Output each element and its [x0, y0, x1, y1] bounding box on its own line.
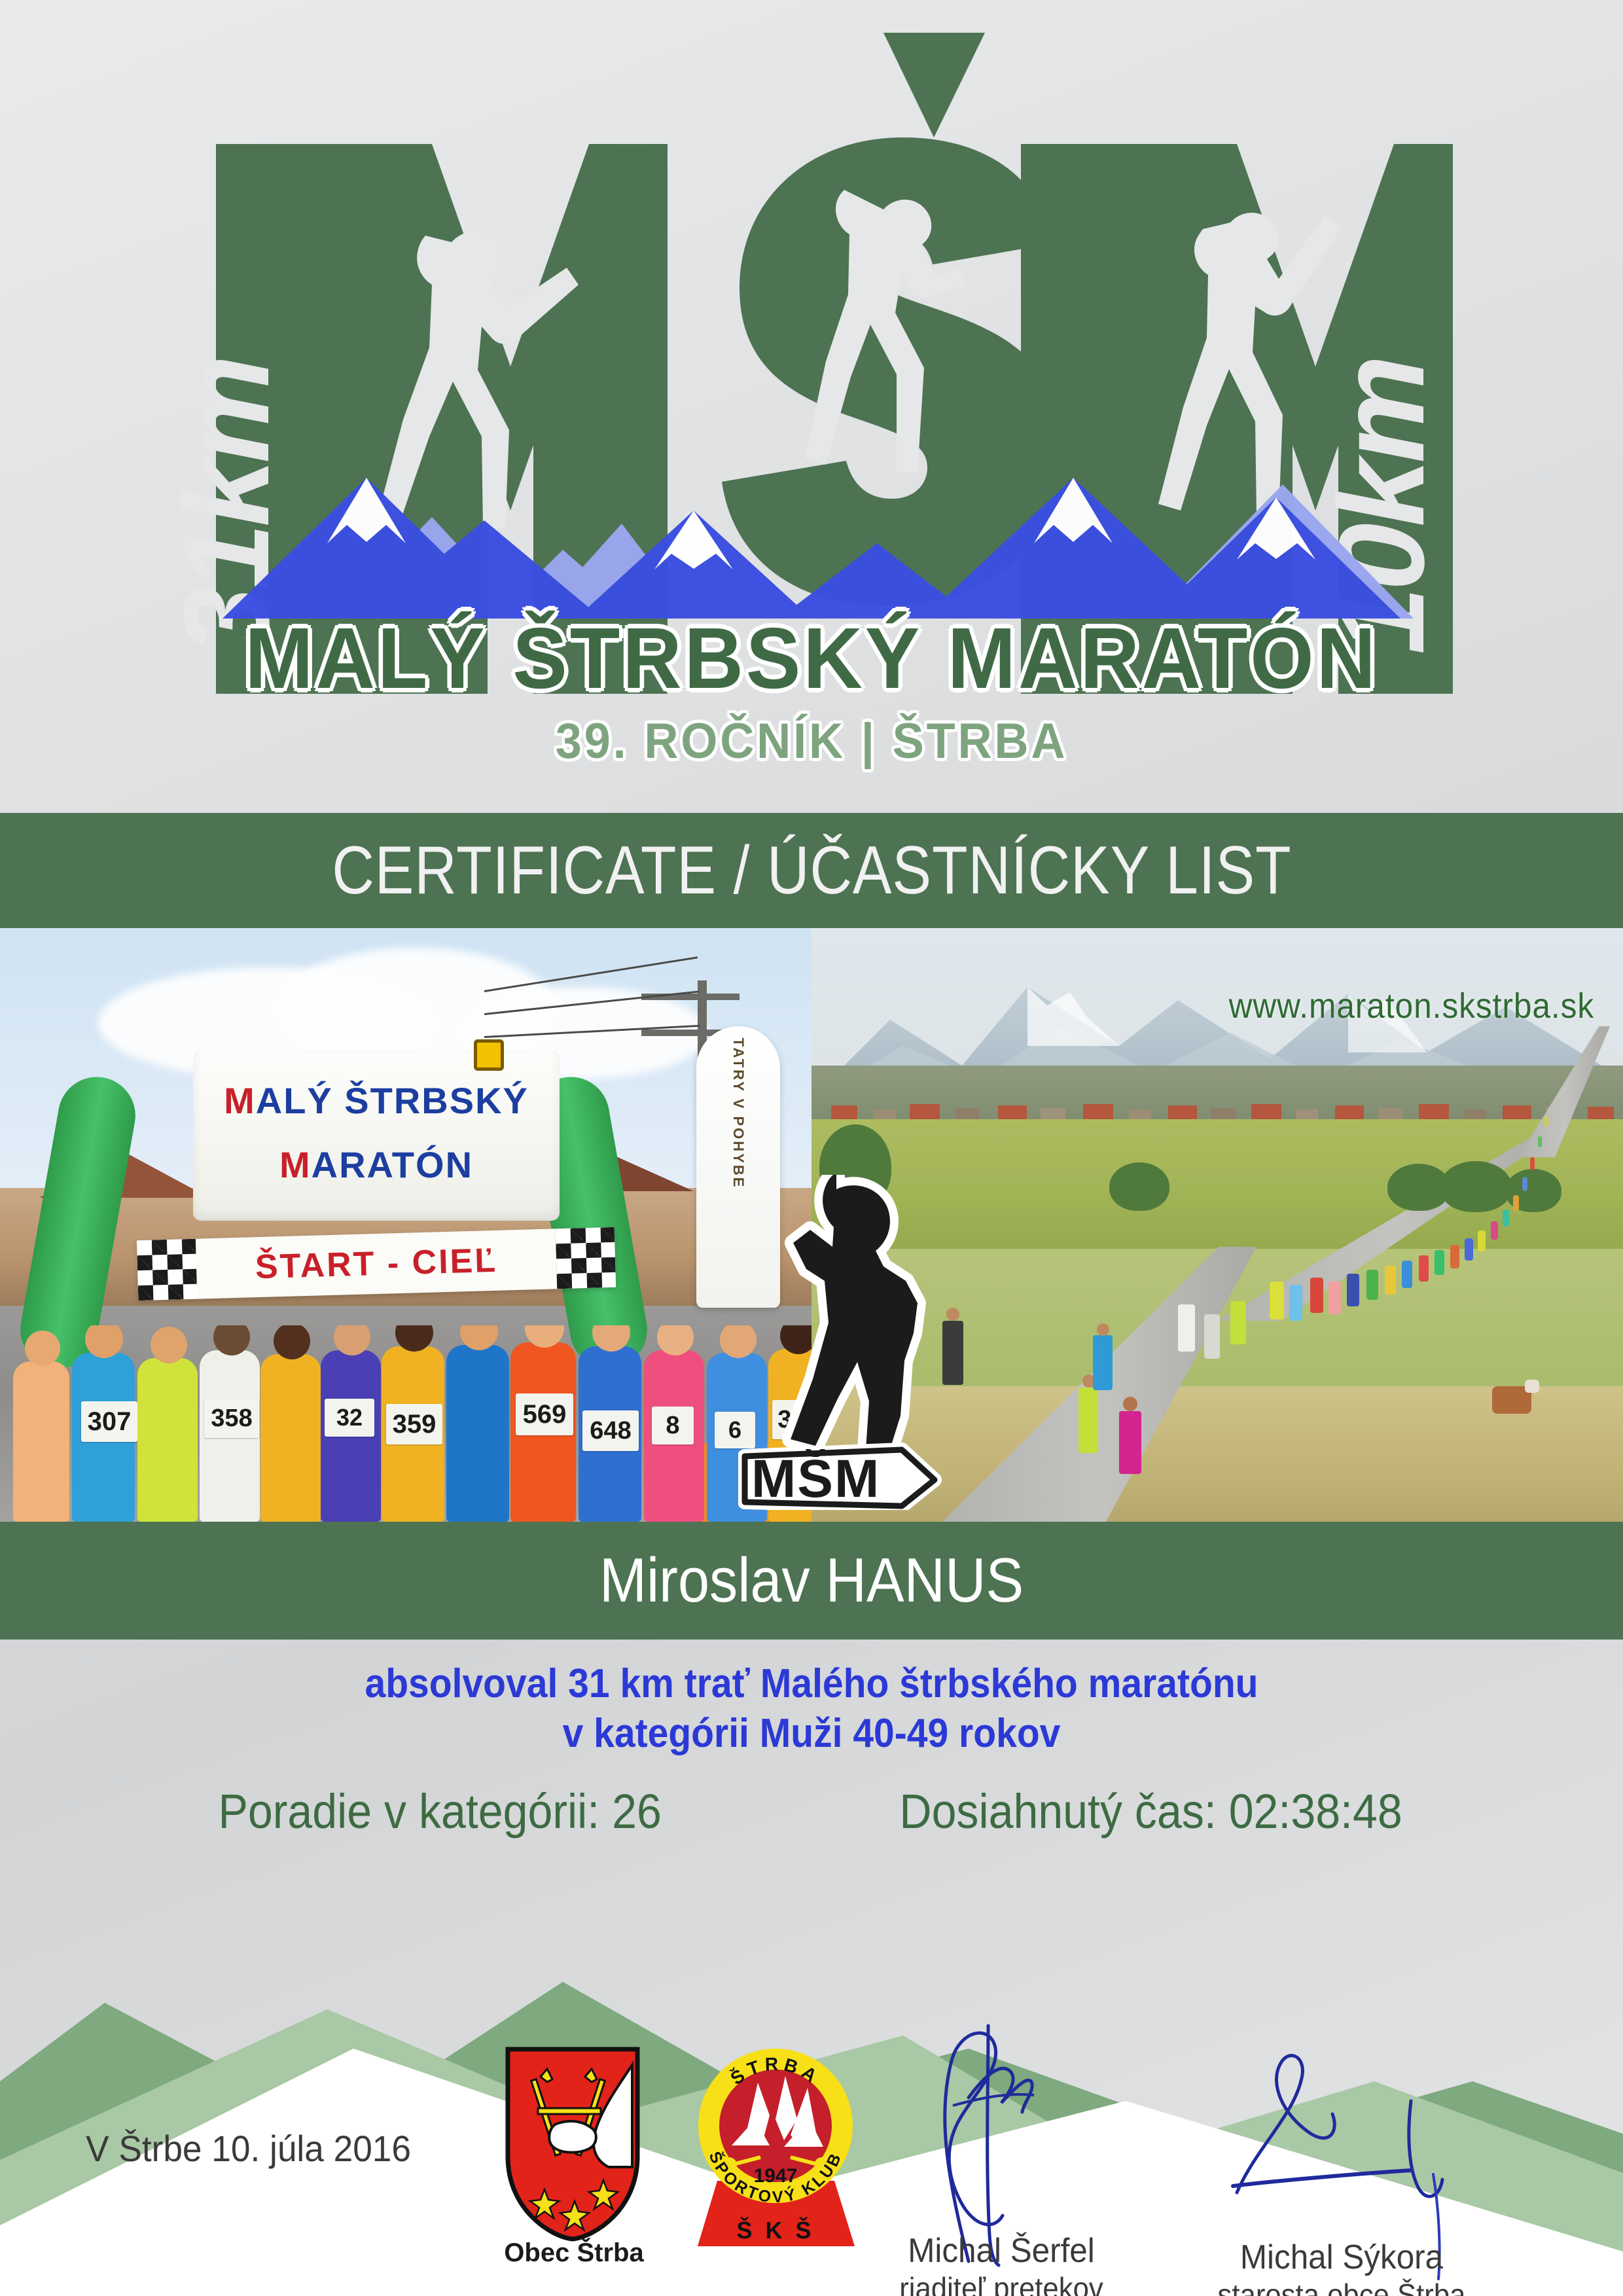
- arch-text-line1: MALÝ ŠTRBSKÝ: [193, 1079, 560, 1122]
- runner-bib: 648: [582, 1410, 639, 1451]
- sks-abbr: Š K Š: [736, 2216, 814, 2244]
- signatory-1: Michal Šerfel riaditeľ pretekov: [831, 2232, 1171, 2296]
- signature-serfel: [890, 2019, 1106, 2268]
- tree-bush: [1109, 1162, 1169, 1211]
- sks-club-logo: 1947 ŠTRBA ŠPORTOVÝ KLUB Š K Š: [692, 2042, 859, 2251]
- runner-figure: [1513, 1195, 1519, 1211]
- runner-figure: [1450, 1245, 1459, 1268]
- runner-figure: [137, 1358, 198, 1522]
- runner-figure: [1366, 1270, 1378, 1300]
- runner-figure: [1402, 1261, 1412, 1288]
- arch-banner: MALÝ ŠTRBSKÝ MARATÓN: [193, 1050, 560, 1221]
- participant-name-band: Miroslav HANUS: [0, 1522, 1623, 1640]
- runner-figure: [1289, 1285, 1302, 1321]
- finish-time: Dosiahnutý čas: 02:38:48: [899, 1784, 1402, 1839]
- runner-figure: [1329, 1282, 1341, 1314]
- runner-figure: [1491, 1221, 1498, 1240]
- signatory-1-role: riaditeľ pretekov: [840, 2271, 1163, 2296]
- hero-logo-section: 31km 10km: [0, 0, 1623, 813]
- runner-crowd: 307 358 32 359 569: [0, 1325, 811, 1522]
- runner-bib: 32: [325, 1399, 374, 1437]
- runner-figure: [1230, 1301, 1246, 1344]
- runner-figure: [1530, 1157, 1535, 1170]
- runner-figure: [1310, 1278, 1323, 1313]
- cow-head: [1525, 1380, 1539, 1393]
- obec-strba-crest: [504, 2045, 641, 2242]
- issue-date: V Štrbe 10. júla 2016: [86, 2127, 411, 2170]
- runner-figure: [13, 1361, 69, 1522]
- runner-figure: [446, 1345, 509, 1522]
- runner-figure: [1435, 1250, 1444, 1275]
- participant-name: Miroslav HANUS: [599, 1545, 1024, 1617]
- runner-figure: [1544, 1117, 1548, 1126]
- certificate-page: 31km 10km: [0, 0, 1623, 2296]
- runner-figure: [1522, 1177, 1527, 1191]
- runner-figure: [1093, 1335, 1113, 1390]
- results-row: Poradie v kategórii: 26 Dosiahnutý čas: …: [0, 1784, 1623, 1839]
- runner-figure: [1419, 1255, 1429, 1282]
- runner-figure: [1204, 1314, 1220, 1359]
- photo-start-line: MALÝ ŠTRBSKÝ MARATÓN ŠTART - CIEĽ TATRY …: [0, 928, 811, 1522]
- runner-figure: [1270, 1282, 1284, 1319]
- event-title: MALÝ ŠTRBSKÝ MARATÓN: [41, 609, 1582, 708]
- runner-figure: [1079, 1388, 1098, 1453]
- rank-in-category: Poradie v kategórii: 26: [219, 1784, 662, 1839]
- runner-head: [1123, 1397, 1137, 1411]
- inflatable-arch: MALÝ ŠTRBSKÝ MARATÓN ŠTART - CIEĽ: [39, 1003, 700, 1370]
- certificate-title-band: CERTIFICATE / ÚČASTNÍCKY LIST: [0, 813, 1623, 928]
- runner-bib: 8: [652, 1407, 694, 1444]
- signatory-2: Michal Sýkora starosta obce Štrba: [1171, 2238, 1512, 2296]
- runner-head: [25, 1331, 60, 1366]
- signatory-2-role: starosta obce Štrba: [1180, 2278, 1503, 2296]
- event-subtitle: 39. ROČNÍK | ŠTRBA: [41, 713, 1582, 770]
- runner-figure: [1385, 1266, 1396, 1295]
- runner-bib: 358: [204, 1399, 259, 1438]
- runner-figure: [1503, 1210, 1509, 1227]
- runner-figure: [1465, 1238, 1473, 1261]
- runner-figure: [1119, 1411, 1141, 1474]
- start-finish-banner: ŠTART - CIEĽ: [137, 1227, 616, 1300]
- start-finish-text: ŠTART - CIEĽ: [137, 1238, 615, 1290]
- runner-bib: 359: [386, 1404, 442, 1444]
- distant-village: [811, 1066, 1623, 1128]
- obec-strba-caption: Obec Štrba: [492, 2238, 656, 2268]
- runner-head: [1097, 1323, 1109, 1336]
- description-line-1: absolvoval 31 km trať Malého štrbského m…: [65, 1659, 1558, 1709]
- logo-caron: [883, 33, 985, 137]
- runner-bib: 569: [516, 1393, 573, 1435]
- logo-letter-s: [722, 137, 1062, 606]
- runner-bib: 307: [81, 1401, 137, 1442]
- runner-figure: [1538, 1136, 1542, 1147]
- signatory-1-name: Michal Šerfel: [840, 2232, 1163, 2271]
- tree-bush: [1440, 1161, 1512, 1212]
- runner-figure: [1178, 1304, 1195, 1352]
- arch-text-line2: MARATÓN: [193, 1143, 560, 1186]
- yellow-sign: [474, 1039, 504, 1071]
- runner-head: [151, 1327, 187, 1363]
- certificate-title: CERTIFICATE / ÚČASTNÍCKY LIST: [332, 832, 1291, 910]
- description-block: absolvoval 31 km trať Malého štrbského m…: [0, 1659, 1623, 1758]
- runner-figure: [260, 1354, 321, 1522]
- emblem-mark: MŠM: [751, 1449, 880, 1509]
- msm-runner-emblem: MŠM: [738, 1175, 961, 1510]
- runner-figure: [1347, 1274, 1359, 1306]
- runner-figure: [1478, 1230, 1486, 1251]
- signatory-2-name: Michal Sýkora: [1180, 2238, 1503, 2278]
- website-url: www.maraton.skstrba.sk: [1228, 986, 1594, 1026]
- tatry-flag-text: TATRY V POHYBE: [730, 1038, 747, 1189]
- sks-year: 1947: [754, 2165, 798, 2187]
- description-line-2: v kategórii Muži 40-49 rokov: [65, 1709, 1558, 1759]
- event-title-wrap: MALÝ ŠTRBSKÝ MARATÓN 39. ROČNÍK | ŠTRBA: [0, 609, 1623, 770]
